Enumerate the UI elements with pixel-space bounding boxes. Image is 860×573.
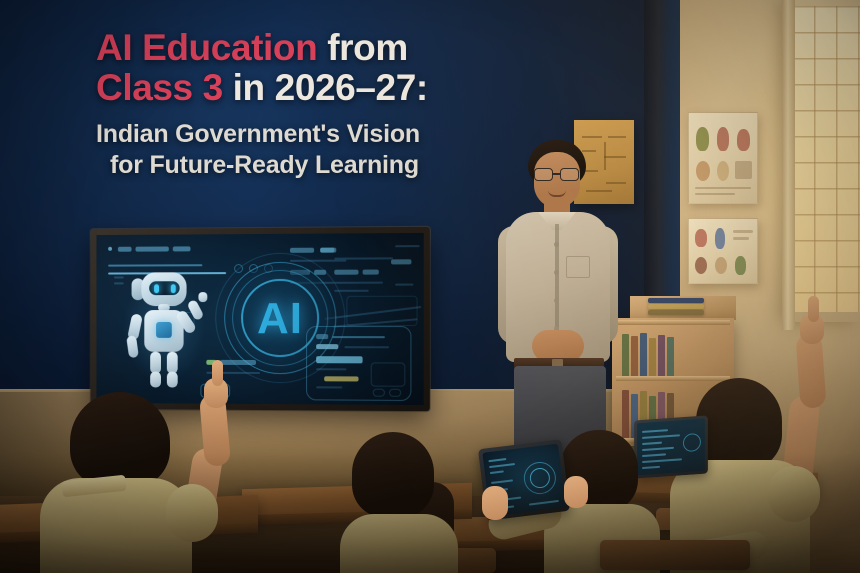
wall-poster-lower [688, 218, 758, 284]
student-left-raised-hand [16, 386, 266, 573]
headline-accent-1: AI Education [96, 27, 317, 68]
smart-board-screen[interactable]: AI [96, 233, 423, 405]
student-with-tablet-hands [482, 430, 662, 573]
smart-board-bezel: AI [91, 227, 430, 411]
glasses-icon [533, 168, 581, 181]
wall-poster-upper [688, 112, 758, 204]
ai-hologram: AI [224, 262, 336, 375]
headline-rest-1: from [317, 27, 408, 68]
banner-canvas: AI Education from Class 3 in 2026–27: In… [0, 0, 860, 573]
subtitle-line-1: Indian Government's Vision [96, 120, 420, 148]
window-mullion [782, 0, 795, 330]
robot-mascot-icon [122, 266, 207, 388]
subtitle-line-2: for Future-Ready Learning [96, 150, 520, 181]
smart-board[interactable]: AI [88, 228, 428, 410]
teacher-figure [492, 140, 622, 440]
headline-line-2: Class 3 in 2026–27: [96, 68, 520, 108]
subtitle-block: Indian Government's Vision for Future-Re… [96, 119, 520, 180]
headline-accent-2: Class 3 [96, 67, 223, 108]
student-girl-ponytail [324, 430, 474, 573]
headline-block: AI Education from Class 3 in 2026–27: In… [0, 28, 520, 180]
window-grid-icon [792, 6, 860, 312]
headline-line-1: AI Education from [96, 28, 520, 68]
headline-rest-2: in 2026–27: [223, 67, 428, 108]
ai-logo-text: AI [224, 294, 336, 344]
